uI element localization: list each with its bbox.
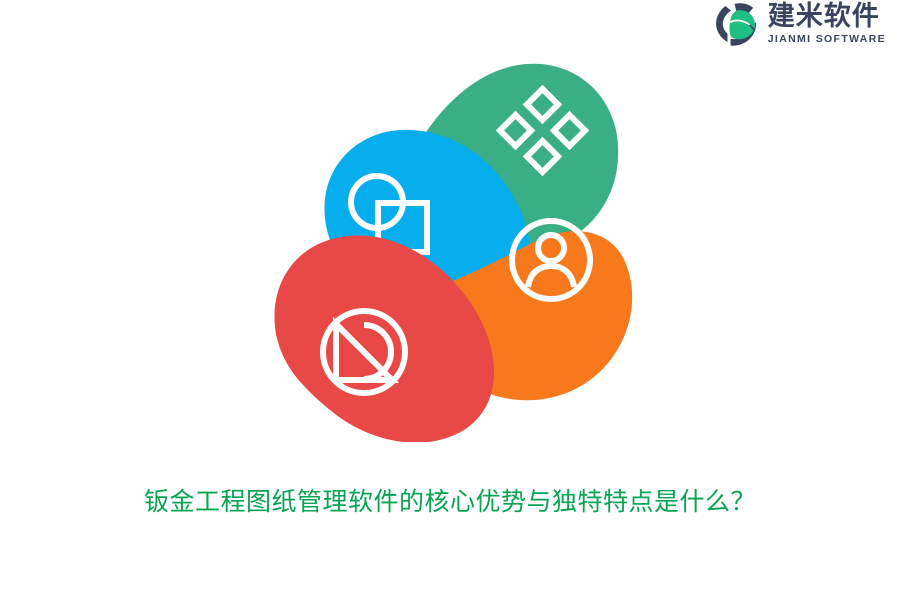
jianmi-leaf-logo-icon [714, 2, 760, 46]
page-title: 钣金工程图纸管理软件的核心优势与独特特点是什么？ [0, 482, 900, 518]
brand-name-cn: 建米软件 [768, 3, 886, 30]
brand-text-block: 建米软件 JIANMI SOFTWARE [768, 3, 886, 45]
brand-header: 建米软件 JIANMI SOFTWARE [714, 0, 886, 48]
play-arrow-circle-icon [323, 311, 405, 393]
brand-name-en: JIANMI SOFTWARE [768, 34, 886, 45]
hero-petal-graphic [264, 62, 636, 442]
